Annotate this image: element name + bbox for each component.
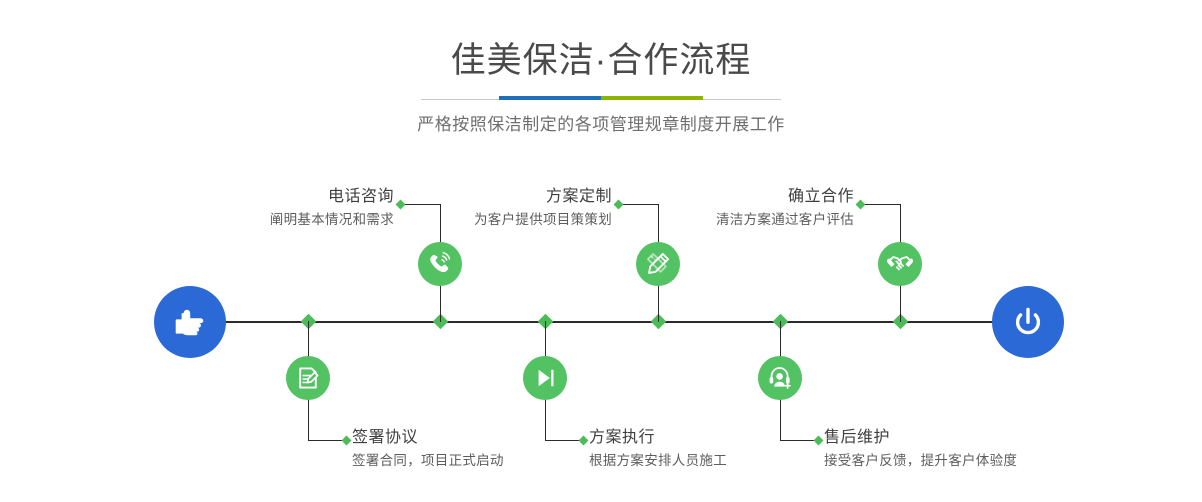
step-label-after-sales: 售后维护 接受客户反馈，提升客户体验度: [824, 427, 1074, 471]
step-desc: 接受客户反馈，提升客户体验度: [824, 448, 1074, 471]
step-label-plan-execution: 方案执行 根据方案安排人员施工: [589, 427, 799, 471]
step-desc: 为客户提供项目策策划: [430, 207, 612, 230]
step-node-plan-customization[interactable]: [636, 242, 680, 286]
step-node-plan-execution[interactable]: [523, 356, 567, 400]
timeline-end-endpoint: [992, 286, 1064, 358]
connector-tip-marker: [396, 200, 406, 210]
step-title: 电话咨询: [210, 186, 394, 207]
page-subtitle: 严格按照保洁制定的各项管理规章制度开展工作: [0, 104, 1202, 137]
divider-segment-blue: [499, 96, 601, 100]
page-header: 佳美保洁·合作流程 严格按照保洁制定的各项管理规章制度开展工作: [0, 0, 1202, 137]
connector-tip-marker: [814, 436, 824, 446]
handshake-icon: [887, 251, 913, 277]
document-edit-icon: [295, 365, 321, 391]
support-agent-icon: [767, 365, 793, 391]
step-desc: 清洁方案通过客户评估: [672, 207, 854, 230]
step-desc: 根据方案安排人员施工: [589, 448, 799, 471]
connector-tip-marker: [856, 200, 866, 210]
divider-segment-green: [601, 96, 703, 100]
step-node-establish-cooperation[interactable]: [878, 242, 922, 286]
step-label-phone-consult: 电话咨询 阐明基本情况和需求: [210, 186, 394, 230]
title-divider: [421, 95, 781, 104]
pointing-hand-icon: [170, 302, 210, 342]
step-label-plan-customization: 方案定制 为客户提供项目策策划: [430, 186, 612, 230]
connector-tip-marker: [342, 436, 352, 446]
step-title: 确立合作: [672, 186, 854, 207]
step-label-sign-agreement: 签署协议 签署合同，项目正式启动: [352, 427, 582, 471]
step-title: 方案执行: [589, 427, 799, 448]
connector-elbow: [621, 204, 659, 205]
pencil-ruler-icon: [645, 251, 671, 277]
flow-diagram-page: 佳美保洁·合作流程 严格按照保洁制定的各项管理规章制度开展工作: [0, 0, 1202, 502]
play-execute-icon: [532, 365, 558, 391]
phone-call-icon: [427, 251, 453, 277]
step-desc: 阐明基本情况和需求: [210, 207, 394, 230]
connector-tip-marker: [614, 200, 624, 210]
step-node-after-sales[interactable]: [758, 356, 802, 400]
connector-elbow: [863, 204, 901, 205]
step-node-phone-consult[interactable]: [418, 242, 462, 286]
page-title: 佳美保洁·合作流程: [0, 0, 1202, 84]
step-node-sign-agreement[interactable]: [286, 356, 330, 400]
step-desc: 签署合同，项目正式启动: [352, 448, 582, 471]
step-label-establish-cooperation: 确立合作 清洁方案通过客户评估: [672, 186, 854, 230]
step-title: 签署协议: [352, 427, 582, 448]
step-title: 售后维护: [824, 427, 1074, 448]
power-icon: [1008, 302, 1048, 342]
timeline-start-endpoint: [154, 286, 226, 358]
step-title: 方案定制: [430, 186, 612, 207]
